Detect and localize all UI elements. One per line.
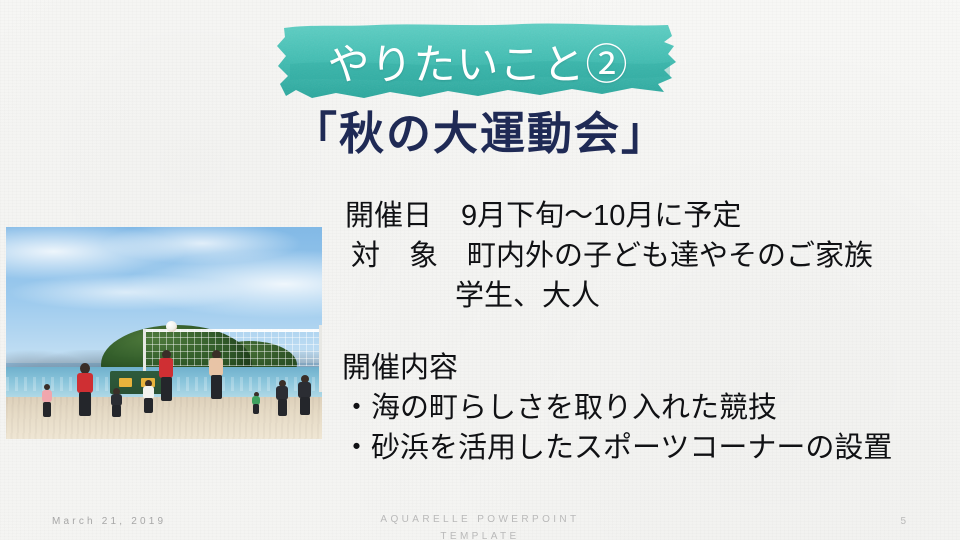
footer-template-name: AQUARELLE POWERPOINT TEMPLATE [330, 512, 630, 540]
page-title: やりたいこと② [272, 28, 684, 94]
photo-bench-panel-left [119, 378, 132, 387]
event-contents-block: 開催内容 ・海の町らしさを取り入れた競技 ・砂浜を活用したスポーツコーナーの設置 [342, 348, 892, 468]
photo-player-legs [161, 377, 172, 401]
photo-player-legs [43, 402, 51, 417]
photo-player-legs [211, 375, 222, 399]
photo-player-legs [112, 405, 121, 417]
photo-player-legs [144, 398, 153, 413]
footer-date: March 21, 2019 [52, 516, 166, 527]
photo-player-crouching [110, 388, 123, 418]
photo-player-blocker [208, 350, 224, 400]
photo-player-torso [209, 358, 223, 376]
photo-player-torso [143, 386, 154, 399]
photo-volleyball [166, 321, 177, 332]
photo-player-legs [300, 397, 310, 415]
slide-canvas: やりたいこと② 「秋の大運動会」 [0, 0, 960, 540]
page-subtitle: 「秋の大運動会」 [260, 108, 700, 160]
contents-bullet-2: ・砂浜を活用したスポーツコーナーの設置 [342, 428, 892, 468]
event-audience-line-2: 学生、大人 [345, 276, 873, 316]
event-details-block: 開催日 9月下旬〜10月に予定 対 象 町内外の子ども達やそのご家族 学生、大人 [345, 196, 873, 316]
footer-template-line-1: AQUARELLE POWERPOINT [330, 512, 630, 529]
event-audience-line: 対 象 町内外の子ども達やそのご家族 [345, 236, 873, 276]
photo-player-legs [253, 404, 259, 414]
photo-player-torso [42, 390, 52, 402]
photo-player-child [252, 392, 261, 414]
photo-player-torso [159, 358, 173, 378]
photo-player-head [44, 384, 50, 390]
photo-player-right-mid [275, 380, 289, 416]
footer-template-line-2: TEMPLATE [330, 529, 630, 540]
photo-net-pole-right [319, 325, 322, 393]
photo-player-right-front [297, 375, 312, 415]
contents-heading: 開催内容 [342, 348, 892, 388]
footer-page-number: 5 [900, 516, 908, 527]
photo-player-red-foreground [76, 363, 94, 417]
photo-player-torso [77, 373, 93, 393]
photo-player-torso [298, 382, 311, 398]
event-date-line: 開催日 9月下旬〜10月に予定 [345, 196, 873, 236]
photo-player-spiker-red [158, 350, 174, 402]
photo-player-legs [79, 392, 91, 416]
photo-player-white-shirt [142, 380, 155, 414]
photo-player-far-left [41, 384, 53, 418]
beach-volleyball-photo [6, 227, 322, 439]
contents-bullet-1: ・海の町らしさを取り入れた競技 [342, 388, 892, 428]
photo-player-legs [278, 399, 287, 416]
photo-player-torso [276, 386, 288, 400]
